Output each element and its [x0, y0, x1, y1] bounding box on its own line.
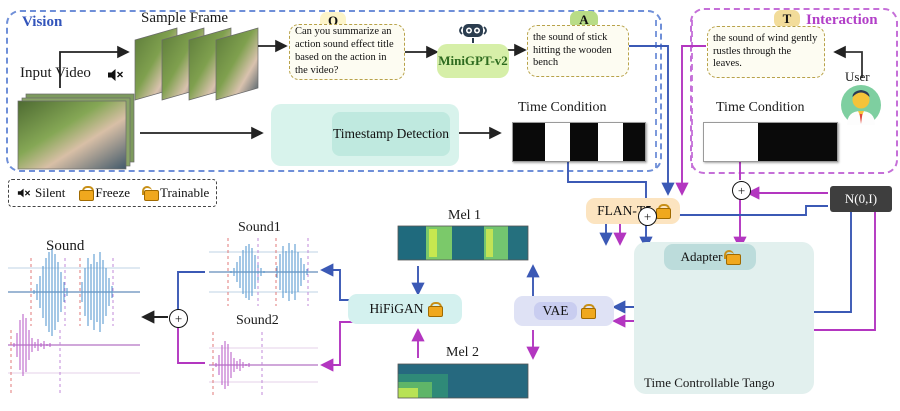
- legend-item-freeze: Freeze: [75, 185, 130, 201]
- waveform-sound-merged: [8, 248, 140, 395]
- sample-frame-label: Sample Frame: [141, 10, 228, 27]
- lock-open-icon: [726, 250, 739, 265]
- lock-open-icon: [144, 186, 157, 201]
- sound-merged-panel-top: [7, 257, 145, 329]
- legend-label-silent: Silent: [35, 185, 65, 201]
- vae-label: VAE: [534, 302, 576, 320]
- sound1-label: Sound1: [238, 220, 281, 236]
- sound2-label: Sound2: [236, 313, 279, 329]
- legend-item-silent: Silent: [16, 185, 65, 201]
- waveform-sound2: [209, 332, 318, 398]
- timestamp-detection-label: Timestamp Detection: [332, 112, 450, 156]
- input-video-label: Input Video: [20, 65, 91, 82]
- mel1-label: Mel 1: [448, 208, 481, 224]
- interaction-text-box: the sound of wind gently rustles through…: [707, 26, 825, 78]
- avatar: [840, 84, 882, 126]
- tc2-seg-1: [758, 123, 837, 161]
- question-box: Can you summarize an action sound effect…: [289, 24, 405, 80]
- lock-closed-icon: [656, 204, 669, 219]
- lock-closed-icon: [428, 302, 441, 317]
- lock-closed-icon: [79, 186, 92, 201]
- legend-item-trainable: Trainable: [140, 185, 209, 201]
- mel-spectrogram-2: [398, 364, 528, 398]
- robot-icon: [458, 21, 488, 45]
- adapter-label: Adapter: [681, 249, 723, 265]
- mute-icon: [16, 186, 32, 200]
- sum-node-sound-merge: +: [169, 309, 188, 328]
- tc1-seg-4: [623, 123, 645, 161]
- sum-node-noise-pink: +: [732, 181, 751, 200]
- tc1-seg-0: [513, 123, 545, 161]
- noise-module: N(0,I): [830, 186, 892, 212]
- sound-label: Sound: [46, 238, 84, 255]
- vae-module[interactable]: VAE: [514, 296, 614, 326]
- legend: Silent Freeze Trainable: [8, 179, 217, 207]
- minigpt-module[interactable]: MiniGPT-v2: [437, 44, 509, 78]
- vision-panel-title: Vision: [22, 14, 62, 31]
- tc1-seg-3: [598, 123, 623, 161]
- hifigan-module[interactable]: HiFiGAN: [348, 294, 462, 324]
- legend-label-trainable: Trainable: [160, 185, 209, 201]
- tc1-seg-2: [570, 123, 598, 161]
- answer-box: the sound of stick hitting the wooden be…: [527, 25, 629, 77]
- tango-label: Time Controllable Tango: [644, 375, 775, 391]
- adapter-module[interactable]: Adapter: [664, 244, 756, 270]
- lock-closed-icon: [581, 304, 594, 319]
- mel2-label: Mel 2: [446, 345, 479, 361]
- user-label: User: [845, 69, 870, 85]
- sound-merged-panel-bottom: [7, 327, 145, 397]
- legend-label-freeze: Freeze: [95, 185, 130, 201]
- time-condition-2-label: Time Condition: [716, 100, 805, 116]
- time-condition-1-bar: [512, 122, 646, 162]
- tc2-seg-0: [704, 123, 758, 161]
- mel-spectrogram-1: [398, 226, 528, 260]
- time-condition-1-label: Time Condition: [518, 100, 607, 116]
- mute-icon: [106, 66, 124, 84]
- hifigan-label: HiFiGAN: [369, 301, 423, 317]
- waveform-sound1: [209, 238, 318, 306]
- time-condition-2-bar: [703, 122, 838, 162]
- sound1-panel: [208, 237, 322, 309]
- tc1-seg-1: [545, 123, 570, 161]
- sum-node-noise-blue: +: [638, 207, 657, 226]
- sound2-panel: [208, 331, 322, 401]
- flan-t5-module[interactable]: FLAN-T5: [586, 198, 680, 224]
